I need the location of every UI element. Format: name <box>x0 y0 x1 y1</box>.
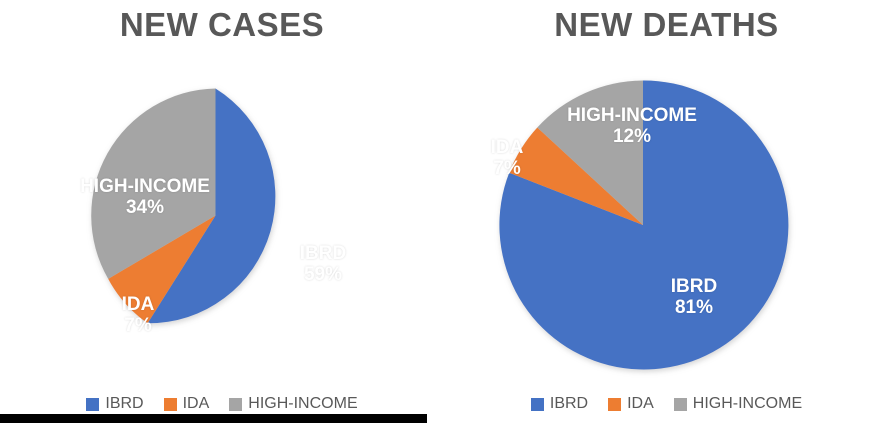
legend-swatch-ida <box>608 398 621 411</box>
legend-item-ibrd[interactable]: IBRD <box>86 395 143 413</box>
chart-title-new-deaths: NEW DEATHS <box>444 6 889 44</box>
legend-item-ida[interactable]: IDA <box>164 395 210 413</box>
legend-swatch-ida <box>164 398 177 411</box>
pie-svg-new-cases <box>88 88 343 343</box>
legend-new-cases: IBRD IDA HIGH-INCOME <box>0 395 444 413</box>
pie-chart-new-cases <box>88 88 343 343</box>
pie-svg-new-deaths <box>498 80 788 370</box>
bottom-black-bar <box>0 414 427 423</box>
legend-swatch-ibrd <box>86 398 99 411</box>
legend-label-ibrd: IBRD <box>105 395 143 413</box>
legend-item-high-income[interactable]: HIGH-INCOME <box>229 395 357 413</box>
legend-label-high-income: HIGH-INCOME <box>693 395 802 413</box>
legend-new-deaths: IBRD IDA HIGH-INCOME <box>444 395 889 413</box>
chart-panel-new-deaths: NEW DEATHS HIGH-INCOME <box>444 0 889 423</box>
legend-item-ibrd[interactable]: IBRD <box>531 395 588 413</box>
legend-item-ida[interactable]: IDA <box>608 395 654 413</box>
legend-label-ida: IDA <box>627 395 654 413</box>
legend-item-high-income[interactable]: HIGH-INCOME <box>674 395 802 413</box>
legend-swatch-high-income <box>229 398 242 411</box>
pie-chart-new-deaths <box>498 80 788 370</box>
pie-charts-row: NEW CASES HIGH-INCOME <box>0 0 889 423</box>
legend-label-ibrd: IBRD <box>550 395 588 413</box>
chart-title-new-cases: NEW CASES <box>0 6 444 44</box>
legend-swatch-high-income <box>674 398 687 411</box>
chart-panel-new-cases: NEW CASES HIGH-INCOME <box>0 0 444 423</box>
legend-label-ida: IDA <box>183 395 210 413</box>
legend-swatch-ibrd <box>531 398 544 411</box>
legend-label-high-income: HIGH-INCOME <box>248 395 357 413</box>
